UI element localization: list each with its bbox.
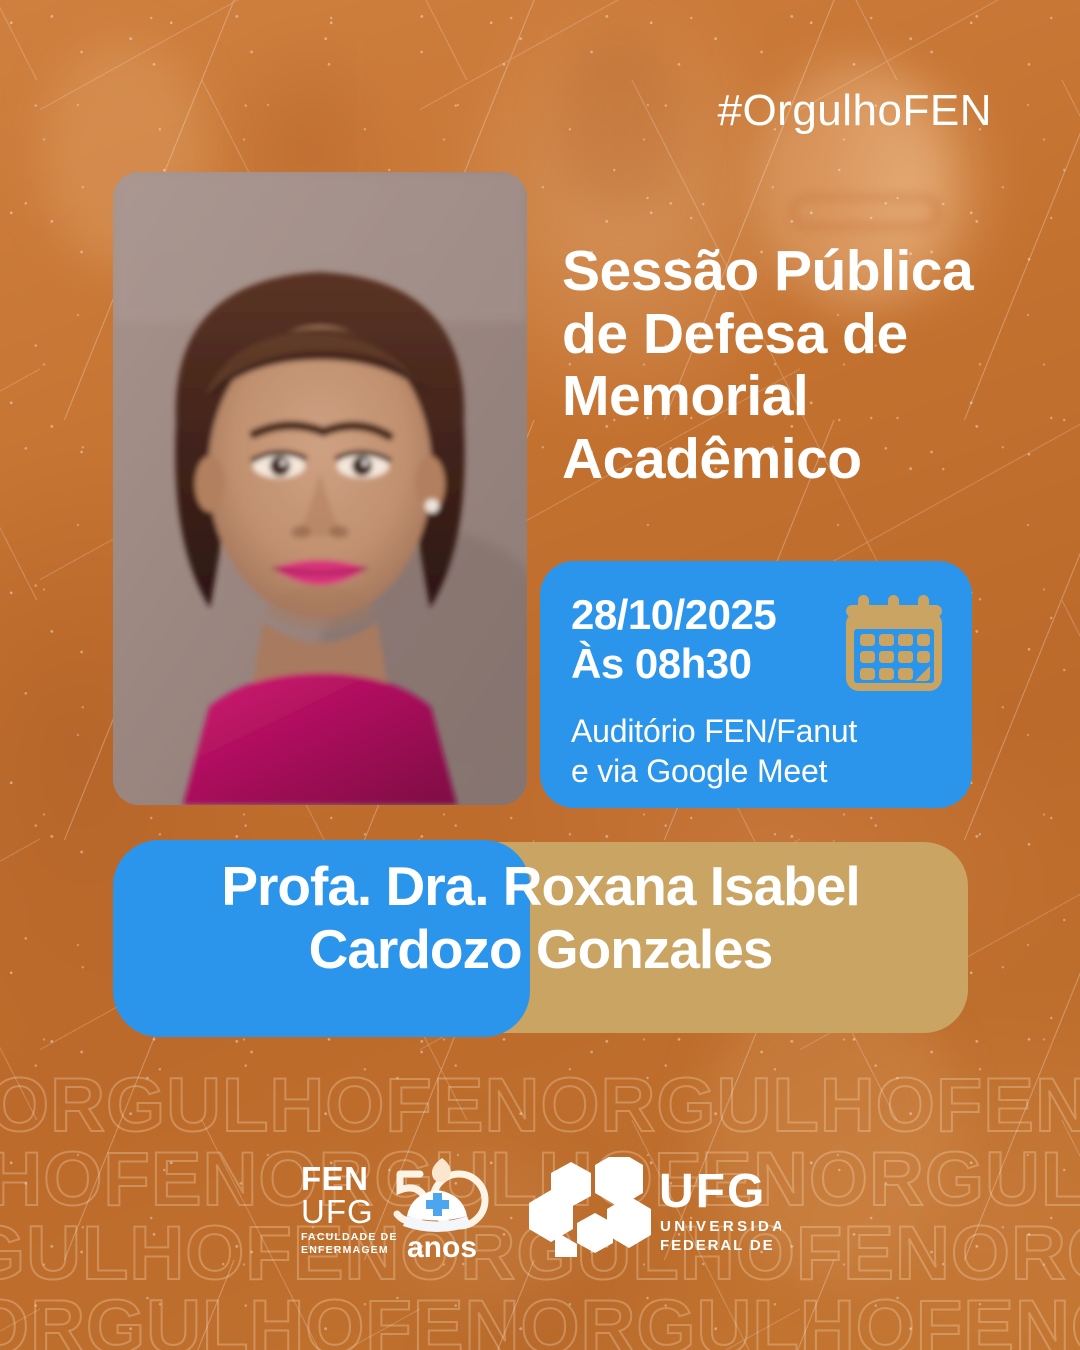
svg-text:UNIVERSIDADE: UNIVERSIDADE [660,1218,781,1235]
svg-text:UFG: UFG [659,1165,766,1218]
svg-text:UFG: UFG [301,1193,374,1230]
event-details-card: 28/10/2025 Às 08h30 Auditório FEN/Fanut … [540,561,972,808]
svg-text:FACULDADE DE: FACULDADE DE [301,1231,398,1243]
svg-text:anos: anos [407,1231,477,1264]
background-ghost-figure [560,30,680,220]
logo-bar: FEN UFG FACULDADE DE ENFERMAGEM [0,1154,1080,1266]
page-title: Sessão Pública de Defesa de Memorial Aca… [562,240,982,491]
svg-text:FEN: FEN [301,1160,369,1197]
calendar-icon [841,593,947,699]
event-datetime: 28/10/2025 Às 08h30 [571,591,776,688]
poster-canvas: ORGULHOFENORGULHOFENORGULHOFENORGULHOFEN… [0,0,1080,1350]
svg-text:FEDERAL DE GOIÁS: FEDERAL DE GOIÁS [660,1237,781,1254]
svg-text:ENFERMAGEM: ENFERMAGEM [301,1244,389,1256]
hashtag-label: #OrgulhoFEN [717,86,992,136]
event-location: Auditório FEN/Fanut e via Google Meet [571,712,857,791]
speaker-name: Profa. Dra. Roxana Isabel Cardozo Gonzal… [113,855,968,980]
fen-ufg-50-anos-logo: FEN UFG FACULDADE DE ENFERMAGEM [299,1154,495,1266]
speaker-portrait-photo [113,172,527,805]
background-ghost-glasses [790,195,940,229]
ufg-logo: UFG UNIVERSIDADE FEDERAL DE GOIÁS [529,1157,781,1263]
